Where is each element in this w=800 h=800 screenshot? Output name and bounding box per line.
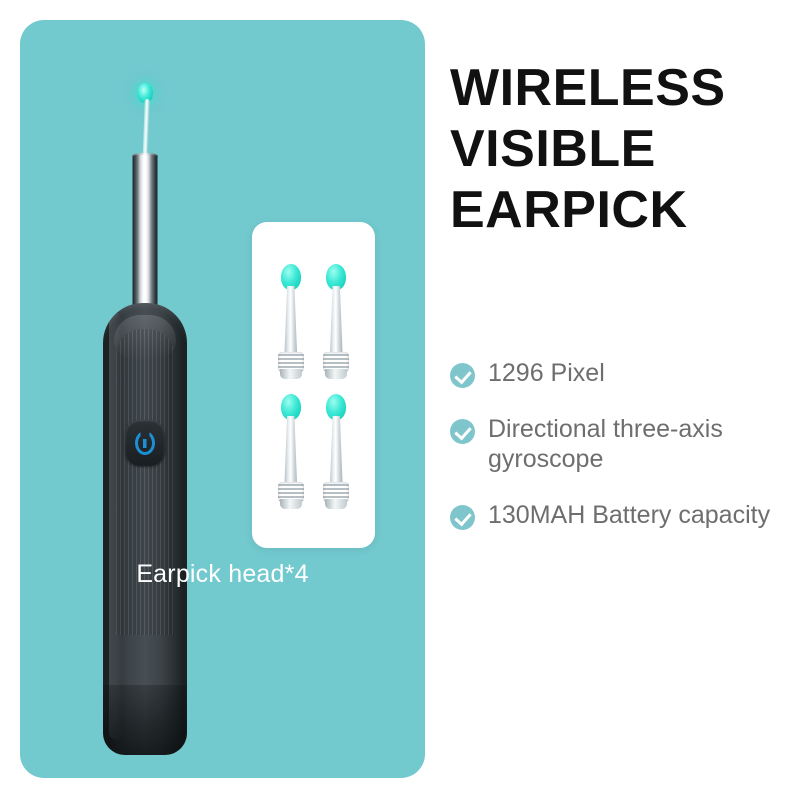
earpick-head [274,264,308,382]
handle-base [103,685,187,755]
feature-item-battery: 130MAH Battery capacity [450,500,780,530]
headline-block: WIRELESS VISIBLE EARPICK [450,58,780,240]
feature-item-pixel: 1296 Pixel [450,358,780,388]
headline-line-3: EARPICK [450,180,780,241]
feature-label: 1296 Pixel [488,358,605,388]
head-shaft [284,286,297,358]
accessory-caption: Earpick head*4 [20,560,425,589]
power-button[interactable] [125,420,165,466]
check-circle-icon [450,363,475,388]
head-base [280,499,302,509]
head-shaft [284,416,297,488]
head-base [325,369,347,379]
page-title: WIRELESS VISIBLE EARPICK [450,58,780,240]
product-photo-panel: Earpick head*4 [20,20,425,778]
handle-ribbing [116,329,174,635]
head-shaft [330,286,343,358]
headline-line-1: WIRELESS [450,58,780,119]
head-shaft [330,416,343,488]
head-base [325,499,347,509]
earpick-device [80,75,210,765]
power-icon [135,431,155,455]
earpick-head [319,394,353,512]
handle-highlight [109,313,122,739]
product-marketing-image: Earpick head*4 WIRELESS VISIBLE EARPICK … [0,0,800,800]
check-circle-icon [450,505,475,530]
headline-line-2: VISIBLE [450,119,780,180]
check-circle-icon [450,419,475,444]
earpick-head [319,264,353,382]
accessory-card [252,222,375,548]
feature-list: 1296 Pixel Directional three-axis gyrosc… [450,358,780,556]
device-handle [103,303,187,755]
feature-item-gyroscope: Directional three-axis gyroscope [450,414,780,474]
earpick-heads-grid [252,222,375,548]
feature-label: 130MAH Battery capacity [488,500,770,530]
probe-stem [143,99,150,159]
earpick-head [274,394,308,512]
head-base [280,369,302,379]
feature-label: Directional three-axis gyroscope [488,414,780,474]
